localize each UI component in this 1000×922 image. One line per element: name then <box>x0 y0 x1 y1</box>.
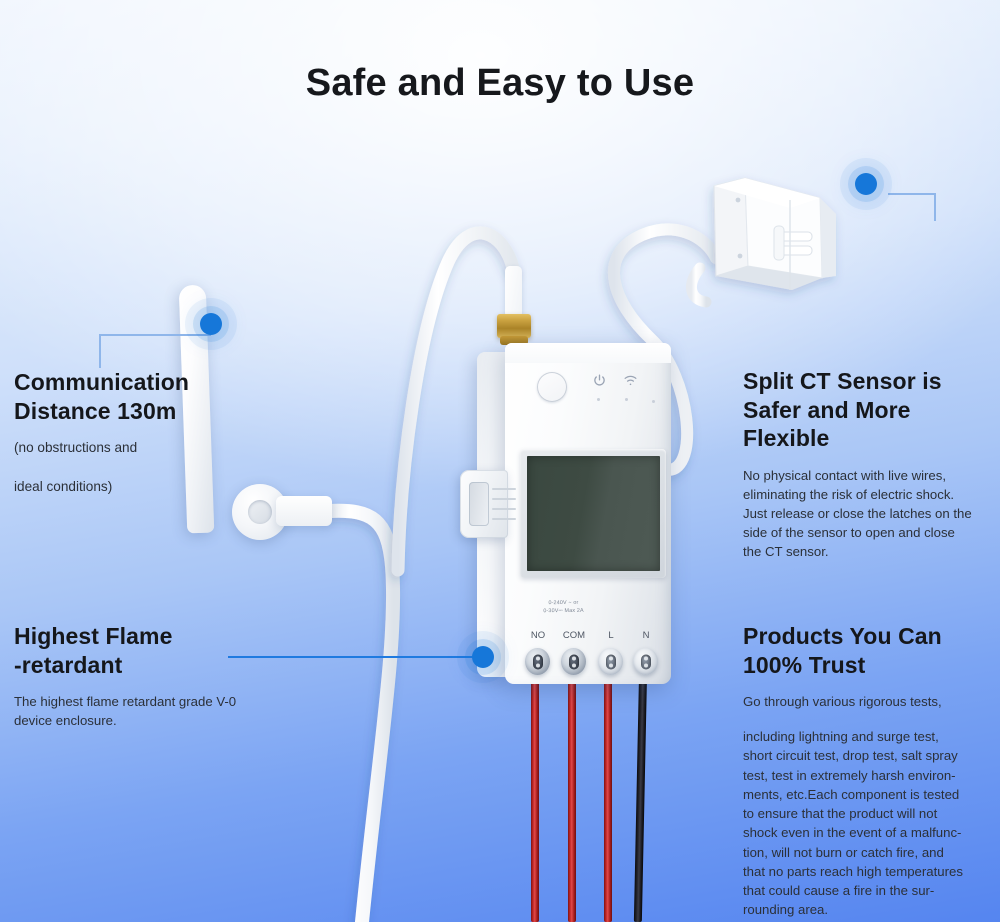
body-line-10: rounding area. <box>743 901 999 919</box>
body-line-2: device enclosure. <box>14 712 269 730</box>
antenna-cable-ferrule <box>505 266 522 318</box>
led-indicator-1 <box>597 398 600 401</box>
body-line-8: that no parts reach high temperatures <box>743 863 999 881</box>
body-line-2: short circuit test, drop test, salt spra… <box>743 747 999 765</box>
body-line-4: ments, etc.Each component is tested <box>743 786 999 804</box>
terminal-screw-com[interactable] <box>561 648 586 675</box>
terminal-screw-no[interactable] <box>525 648 550 675</box>
heading-line-1: Split CT Sensor is <box>743 368 942 394</box>
leader-line-split-ct-v <box>934 193 936 221</box>
body-line-3: Just release or close the latches on the <box>743 505 995 523</box>
callout-communication-distance: Communication Distance 130m (no obstruct… <box>14 368 264 497</box>
callout-dot-communication[interactable] <box>200 313 222 335</box>
heading-line-1: Highest Flame <box>14 623 173 649</box>
wire-com <box>568 676 576 922</box>
terminal-label-no: NO <box>521 630 555 641</box>
body-line-1: No physical contact with live wires, <box>743 467 995 485</box>
wire-no <box>531 676 539 922</box>
callout-products-you-can-trust: Products You Can 100% Trust Go through v… <box>743 622 999 919</box>
body-line-1: (no obstructions and <box>14 439 264 458</box>
body-line-4: side of the sensor to open and close <box>743 524 995 542</box>
heading-line-2: Distance 130m <box>14 398 176 424</box>
body-line-5: to ensure that the product will not <box>743 805 999 823</box>
antenna-base-connector <box>276 496 332 526</box>
device-top-face <box>505 343 671 363</box>
callout-body-trust: Go through various rigorous tests, inclu… <box>743 693 999 919</box>
led-indicator-2 <box>625 398 628 401</box>
callout-heading-communication: Communication Distance 130m <box>14 368 264 425</box>
heading-line-1: Products You Can <box>743 623 942 649</box>
body-line-1: including lightning and surge test, <box>743 728 999 746</box>
body-line-7: tion, will not burn or catch fire, and <box>743 844 999 862</box>
wire-l <box>604 676 612 922</box>
body-line-3: test, test in extremely harsh environ- <box>743 767 999 785</box>
din-rail-clip[interactable] <box>460 470 508 538</box>
body-line-2: ideal conditions) <box>14 478 264 497</box>
body-paragraph-1: Go through various rigorous tests, <box>743 693 999 711</box>
leader-line-communication-v <box>99 334 101 368</box>
heading-line-3: Flexible <box>743 425 829 451</box>
lcd-screen <box>527 456 660 571</box>
terminal-label-n: N <box>629 630 663 641</box>
power-icon <box>592 373 607 388</box>
callout-dot-split-ct[interactable] <box>855 173 877 195</box>
callout-flame-retardant: Highest Flame -retardant The highest fla… <box>14 622 269 730</box>
callout-body-split-ct: No physical contact with live wires, eli… <box>743 467 995 562</box>
terminal-screw-l[interactable] <box>598 648 623 675</box>
lcd-screen-bezel <box>520 449 666 578</box>
rating-line-2: 0-30V⎓ Max 2A <box>516 607 611 616</box>
callout-dot-flame-retardant[interactable] <box>472 646 494 668</box>
wire-n <box>634 676 647 922</box>
wifi-icon <box>622 373 639 388</box>
callout-split-ct-sensor: Split CT Sensor is Safer and More Flexib… <box>743 367 995 562</box>
heading-line-2: Safer and More <box>743 397 911 423</box>
callout-heading-trust: Products You Can 100% Trust <box>743 622 999 679</box>
leader-line-communication-h <box>99 334 211 336</box>
heading-line-2: 100% Trust <box>743 652 865 678</box>
heading-line-1: Communication <box>14 369 189 395</box>
body-line-2: eliminating the risk of electric shock. <box>743 486 995 504</box>
callout-body-communication: (no obstructions and ideal conditions) <box>14 439 264 497</box>
rating-label: 0-240V ~ or 0-30V⎓ Max 2A <box>516 600 611 617</box>
sma-gold-connector <box>497 314 531 338</box>
terminal-label-l: L <box>594 630 628 641</box>
terminal-label-com: COM <box>557 630 591 641</box>
callout-body-flame-retardant: The highest flame retardant grade V-0 de… <box>14 693 269 730</box>
heading-line-2: -retardant <box>14 652 122 678</box>
pairing-button[interactable] <box>537 372 567 402</box>
body-line-9: that could cause a fire in the sur- <box>743 882 999 900</box>
body-line-5: the CT sensor. <box>743 543 995 561</box>
callout-heading-flame-retardant: Highest Flame -retardant <box>14 622 269 679</box>
body-line-1: The highest flame retardant grade V-0 <box>14 693 269 711</box>
body-line-6: shock even in the event of a malfunc- <box>743 824 999 842</box>
leader-line-split-ct-h <box>888 193 936 195</box>
terminal-screw-n[interactable] <box>633 648 658 675</box>
callout-heading-split-ct: Split CT Sensor is Safer and More Flexib… <box>743 367 995 453</box>
led-indicator-3 <box>652 400 655 403</box>
